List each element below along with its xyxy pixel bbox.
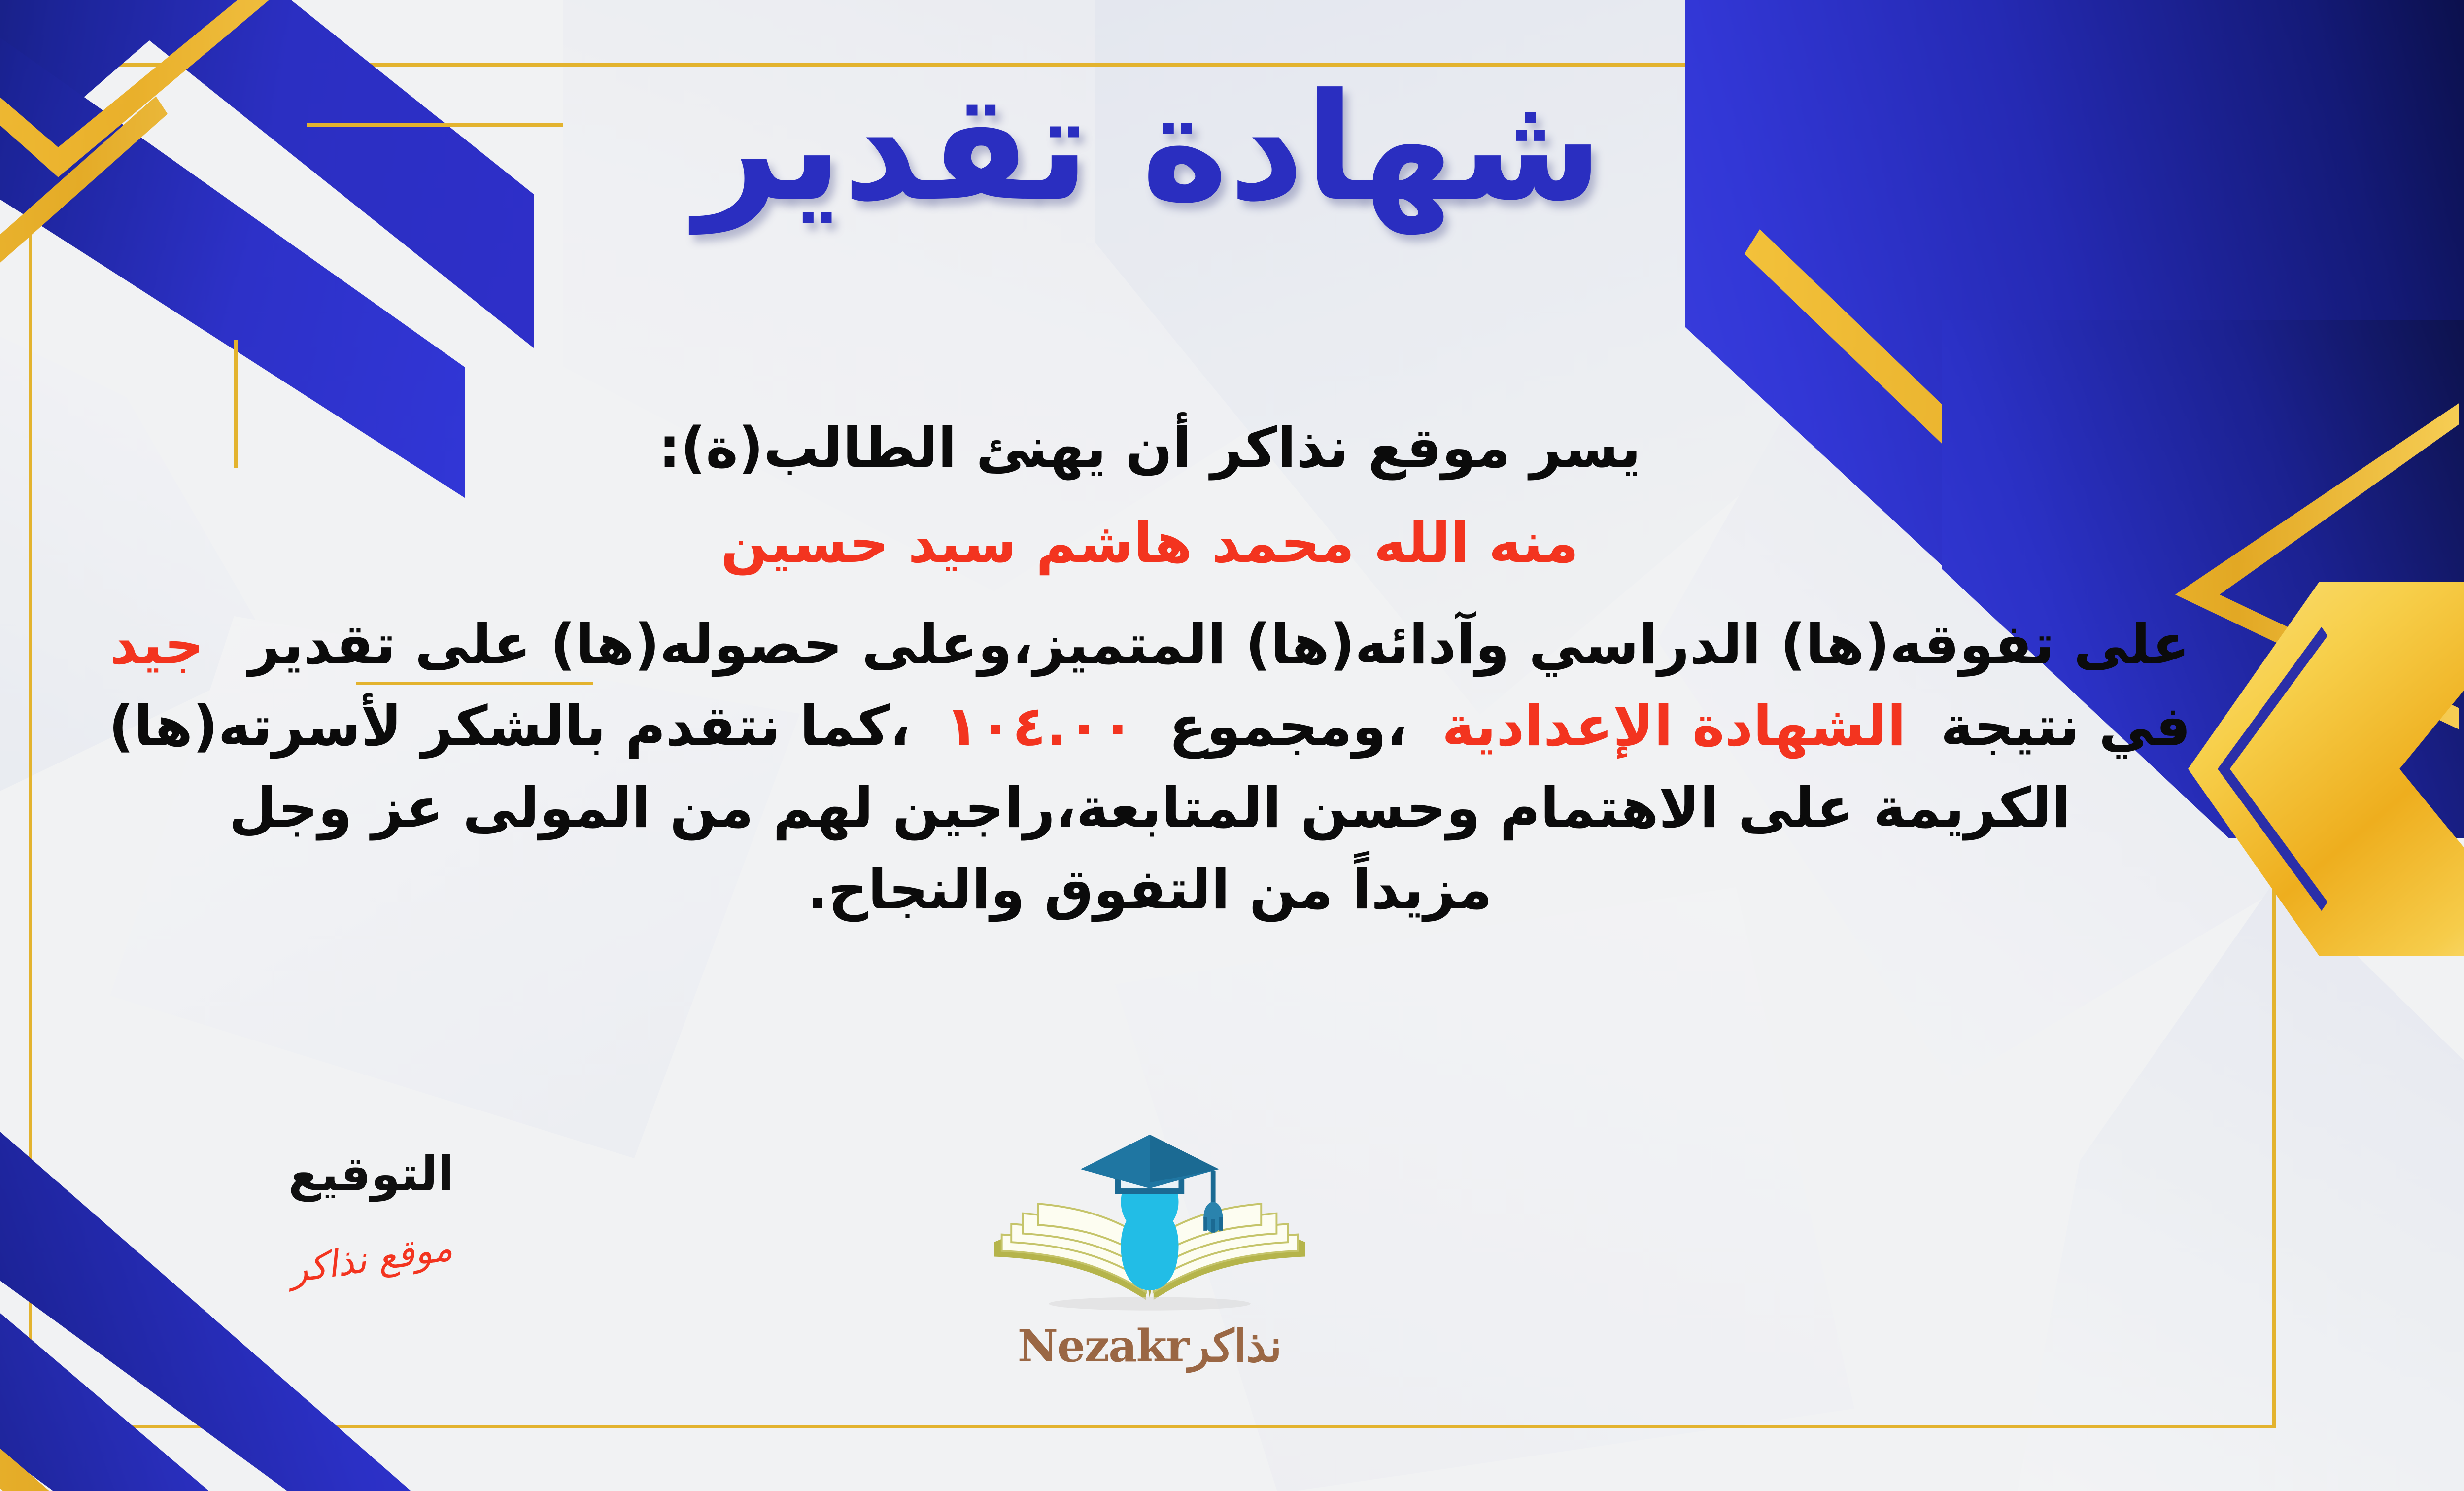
achievement-text: على تفوقه(ها) الدراسي وآدائه(ها) المتميز… bbox=[248, 613, 2190, 677]
logo-wordmark-en: Nezakr bbox=[1018, 1320, 1189, 1372]
logo-wordmark: نذاكرNezakr bbox=[958, 1320, 1342, 1372]
site-logo: نذاكرNezakr bbox=[958, 1129, 1342, 1372]
result-prefix: في نتيجة bbox=[1941, 694, 2191, 759]
signature-label: التوقيع bbox=[218, 1148, 524, 1201]
logo-wordmark-ar: نذاكر bbox=[1188, 1320, 1282, 1372]
result-line: في نتيجةالشهادة الإعدادية،ومجموع١٠٤.٠٠،ك… bbox=[0, 686, 2318, 768]
certificate-title: شهادة تقدير bbox=[0, 74, 2464, 222]
signature-script: موقع نذاكر bbox=[217, 1218, 525, 1300]
certificate-body: يسر موقع نذاكر أن يهنئ الطالب(ة): منه ال… bbox=[0, 409, 2318, 931]
signature-block: التوقيع موقع نذاكر bbox=[218, 1148, 524, 1279]
closing-line: مزيداً من التفوق والنجاح. bbox=[0, 849, 2318, 931]
thanks-line: الكريمة على الاهتمام وحسن المتابعة،راجين… bbox=[0, 768, 2318, 850]
result-mid: ،ومجموع bbox=[1169, 694, 1407, 759]
grade-value: جيد bbox=[110, 613, 248, 677]
exam-name: الشهادة الإعدادية bbox=[1407, 694, 1941, 759]
certificate-content: شهادة تقدير يسر موقع نذاكر أن يهنئ الطال… bbox=[0, 0, 2464, 1491]
achievement-line: على تفوقه(ها) الدراسي وآدائه(ها) المتميز… bbox=[0, 604, 2318, 686]
logo-mark bbox=[958, 1129, 1342, 1326]
student-name: منه الله محمد هاشم سيد حسين bbox=[0, 504, 2318, 583]
total-score: ١٠٤.٠٠ bbox=[911, 694, 1169, 759]
result-suffix: ،كما نتقدم بالشكر لأسرته(ها) bbox=[108, 694, 910, 759]
certificate-page: شهادة تقدير يسر موقع نذاكر أن يهنئ الطال… bbox=[0, 0, 2464, 1491]
greeting-line: يسر موقع نذاكر أن يهنئ الطالب(ة): bbox=[0, 409, 2318, 487]
